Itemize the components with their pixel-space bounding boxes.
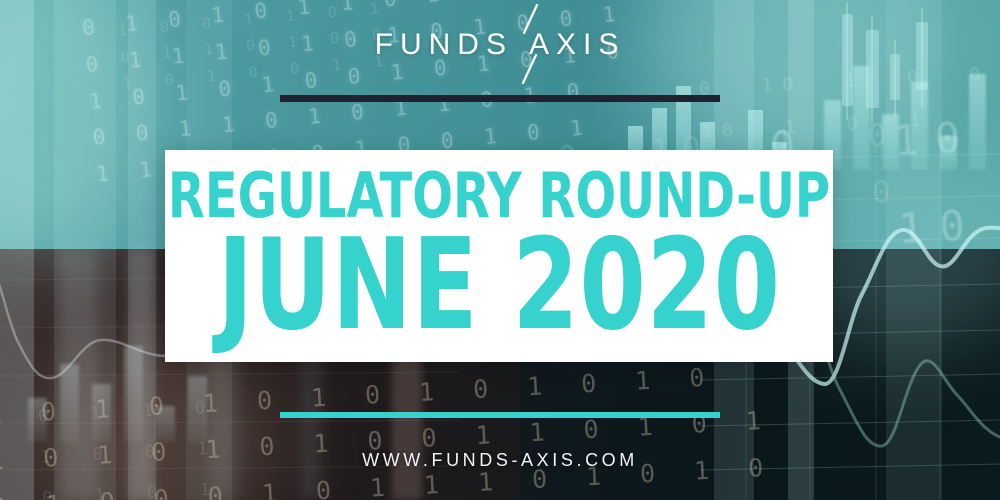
title-card: REGULATORY ROUND-UP JUNE 2020 bbox=[165, 150, 833, 362]
divider-teal-bottom bbox=[280, 412, 720, 418]
brand-logo-text: FUNDS AXIS bbox=[375, 28, 626, 62]
brand-name-funds: FUNDS bbox=[375, 28, 513, 62]
regulatory-roundup-banner: 0 1 0 1 0 1 1 0 1 1 0 0 1 1 1 0 1 0 1 0 … bbox=[0, 0, 1000, 500]
divider-dark-top bbox=[280, 95, 720, 102]
page-title-line-2: JUNE 2020 bbox=[217, 222, 780, 348]
brand-logo: FUNDS AXIS bbox=[0, 28, 1000, 62]
brand-name-axis-wrap: AXIS bbox=[529, 28, 625, 62]
website-url: WWW.FUNDS-AXIS.COM bbox=[0, 450, 1000, 471]
brand-name-axis: AXIS bbox=[529, 28, 625, 61]
